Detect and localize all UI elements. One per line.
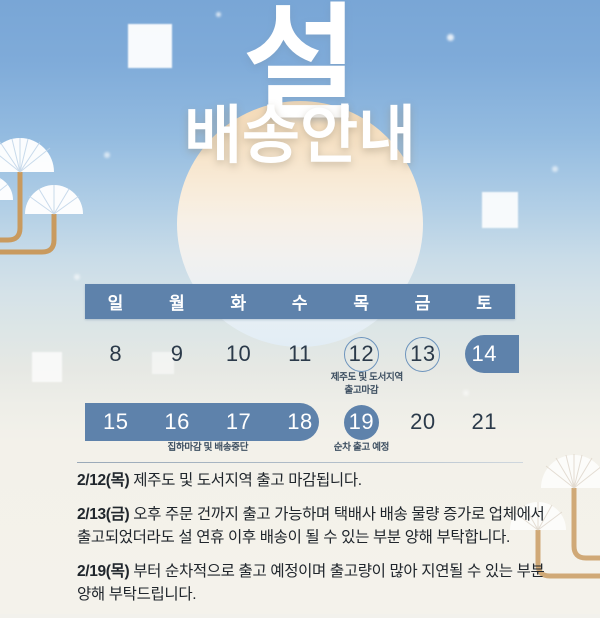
date-cell-9[interactable]: 9: [146, 331, 207, 377]
date-cell-15[interactable]: 15: [85, 399, 146, 445]
caption-jeju-cutoff-line2: 출고마감: [331, 385, 392, 398]
date-cell-8[interactable]: 8: [85, 331, 146, 377]
date-cell-18[interactable]: 18: [269, 399, 330, 445]
date-cell-11[interactable]: 11: [269, 331, 330, 377]
caption-pickup-stop: 집하마감 및 배송중단: [85, 442, 331, 455]
calendar-weekday-header: 일 월 화 수 목 금 토: [85, 284, 515, 319]
date-cell-17[interactable]: 17: [208, 399, 269, 445]
weekday-sat: 토: [454, 289, 515, 314]
date-cell-14[interactable]: 14: [454, 331, 515, 377]
date-cell-19[interactable]: 19: [331, 399, 392, 445]
sparkle-star: [482, 192, 518, 228]
note-item-3: 2/19(목) 부터 순차적으로 출고 예정이며 출고량이 많아 지연될 수 있…: [77, 561, 557, 607]
note-text-1: 제주도 및 도서지역 출고 마감됩니다.: [129, 472, 361, 489]
caption-jeju-cutoff-line1: 제주도 및 도서지역: [331, 372, 392, 385]
note-item-1: 2/12(목) 제주도 및 도서지역 출고 마감됩니다.: [77, 470, 557, 493]
weekday-sun: 일: [85, 289, 146, 314]
date-cell-12[interactable]: 12: [331, 331, 392, 377]
calendar-row-week2: 15 16 17 18 19 20 21 집하마감 및 배송중단 순차 출고 예…: [85, 399, 515, 445]
weekday-fri: 금: [392, 289, 453, 314]
date-cell-21[interactable]: 21: [454, 399, 515, 445]
weekday-tue: 화: [208, 289, 269, 314]
weekday-mon: 월: [146, 289, 207, 314]
weekday-wed: 수: [269, 289, 330, 314]
calendar-row-week1: 8 9 10 11 12 13 14 제주도 및 도서지역 출고마감: [85, 331, 515, 377]
date-cell-10[interactable]: 10: [208, 331, 269, 377]
note-item-2: 2/13(금) 오후 주문 건까지 출고 가능하며 택배사 배송 물량 증가로 …: [77, 504, 557, 550]
calendar: 일 월 화 수 목 금 토 8 9 10 11 12 13 14 제주도 및 도…: [85, 284, 515, 445]
note-text-3: 부터 순차적으로 출고 예정이며 출고량이 많아 지연될 수 있는 부분 양해 …: [77, 563, 544, 603]
date-cell-20[interactable]: 20: [392, 399, 453, 445]
sparkle-star: [32, 352, 62, 382]
caption-jeju-cutoff: 제주도 및 도서지역 출고마감: [331, 372, 392, 398]
note-date-1: 2/12(목): [77, 472, 129, 489]
weekday-thu: 목: [331, 289, 392, 314]
notes-list: 2/12(목) 제주도 및 도서지역 출고 마감됩니다. 2/13(금) 오후 …: [77, 470, 557, 618]
date-cell-16[interactable]: 16: [146, 399, 207, 445]
notes-divider: [77, 462, 523, 463]
date-cell-13[interactable]: 13: [392, 331, 453, 377]
caption-sequential-shipping: 순차 출고 예정: [317, 442, 406, 455]
note-date-2: 2/13(금): [77, 506, 129, 523]
page-title-sub: 배송안내: [0, 105, 600, 168]
note-text-2: 오후 주문 건까지 출고 가능하며 택배사 배송 물량 증가로 업체에서 출고되…: [77, 506, 544, 546]
note-date-3: 2/19(목): [77, 563, 129, 580]
title-block: 설 배송안내: [0, 0, 600, 168]
